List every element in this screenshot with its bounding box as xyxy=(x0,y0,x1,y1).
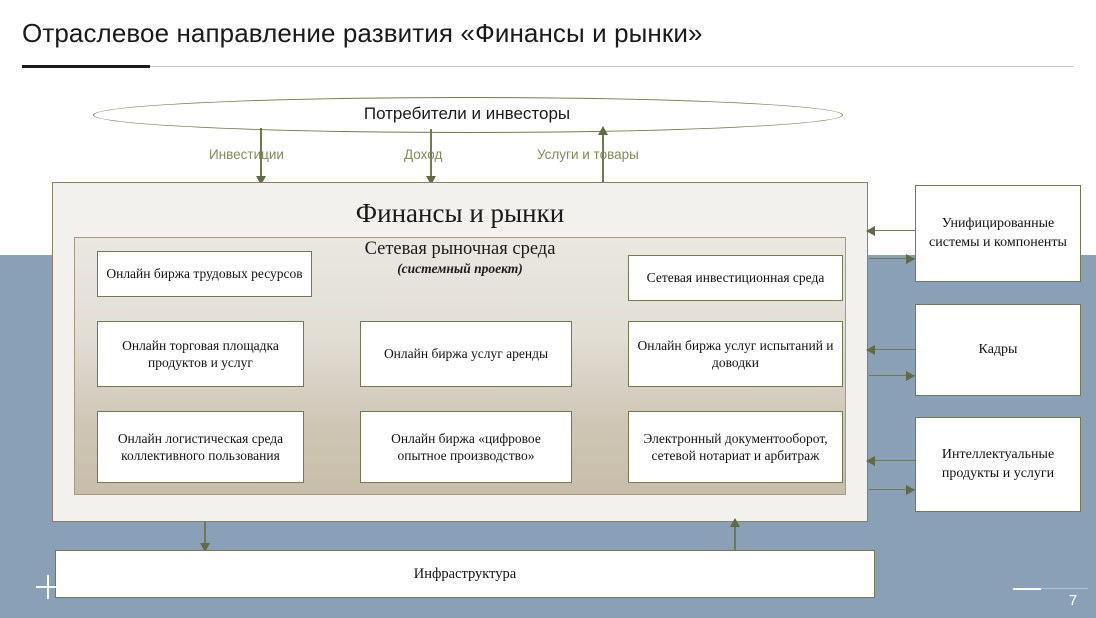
cell-digital-pilot-production-exchange[interactable]: Онлайн биржа «цифровое опытное производс… xyxy=(360,411,572,483)
side-arrow-intellectual-in xyxy=(866,456,875,466)
page-rule-accent xyxy=(1013,588,1041,590)
cell-trading-platform[interactable]: Онлайн торговая площадка продуктов и усл… xyxy=(97,321,304,387)
side-arrow-unified-in xyxy=(866,226,875,236)
page-number: 7 xyxy=(1060,592,1086,609)
cell-network-investment-environment[interactable]: Сетевая инвестиционная среда xyxy=(628,255,843,301)
side-arrow-intellectual-out xyxy=(906,485,915,495)
flow-label-services-goods: Услуги и товары xyxy=(537,147,639,162)
cell-rental-services-exchange[interactable]: Онлайн биржа услуг аренды xyxy=(360,321,572,387)
side-arrow-unified-out xyxy=(906,254,915,264)
side-box-personnel[interactable]: Кадры xyxy=(915,304,1081,396)
infra-arrow-up xyxy=(730,518,740,527)
side-arrow-personnel-out xyxy=(906,371,915,381)
page-rule-light xyxy=(1041,588,1088,589)
cell-labor-resources-exchange[interactable]: Онлайн биржа трудовых ресурсов xyxy=(97,251,312,297)
slide-canvas: Отраслевое направление развития «Финансы… xyxy=(0,0,1096,618)
side-line-personnel-in xyxy=(873,349,915,350)
cell-testing-services-exchange[interactable]: Онлайн биржа услуг испытаний и доводки xyxy=(628,321,843,387)
flow-label-investments: Инвестиции xyxy=(209,147,284,162)
flow-arrow-services-goods xyxy=(598,126,608,135)
side-box-unified-systems[interactable]: Унифицированные системы и компоненты xyxy=(915,185,1081,282)
flow-label-income: Доход xyxy=(404,147,442,162)
title-rule-accent xyxy=(22,65,150,68)
finance-markets-title: Финансы и рынки xyxy=(52,198,868,229)
page-title: Отраслевое направление развития «Финансы… xyxy=(22,18,1062,49)
plus-decoration-icon xyxy=(36,575,60,599)
cell-edoc-notary-arbitration[interactable]: Электронный документооборот, сетевой нот… xyxy=(628,411,843,483)
cell-logistics-environment[interactable]: Онлайн логистическая среда коллективного… xyxy=(97,411,304,483)
consumers-investors-label: Потребители и инвесторы xyxy=(93,97,841,131)
infrastructure-box[interactable]: Инфраструктура xyxy=(55,550,875,598)
side-line-unified-in xyxy=(873,230,915,231)
side-box-intellectual-products[interactable]: Интеллектуальные продукты и услуги xyxy=(915,417,1081,512)
infra-line-up xyxy=(734,525,735,550)
side-line-intellectual-in xyxy=(873,460,915,461)
side-arrow-personnel-in xyxy=(866,345,875,355)
title-rule-light xyxy=(22,66,1074,67)
